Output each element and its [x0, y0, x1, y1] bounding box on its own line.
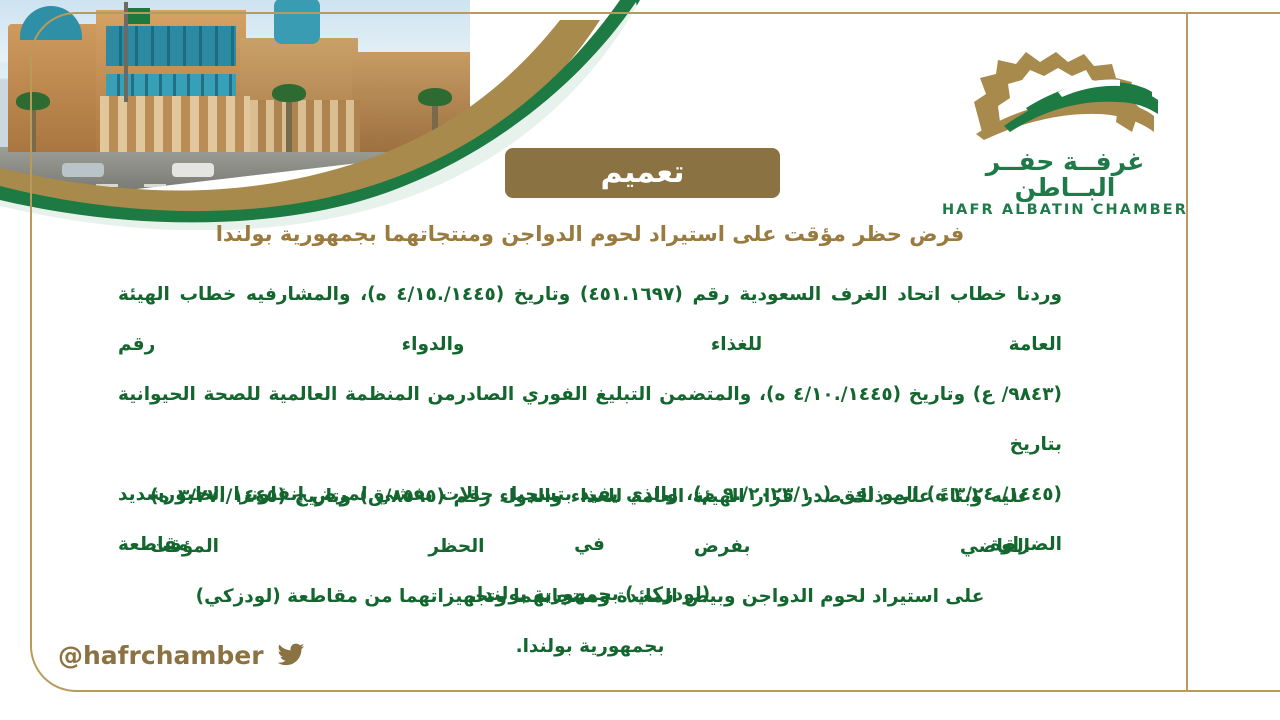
twitter-bird-glyph — [277, 644, 304, 666]
chamber-logo-mark — [940, 40, 1190, 145]
twitter-bird-icon[interactable] — [276, 640, 306, 670]
announcement-page: غرفــة حفــر البــاطن HAFR ALBATIN CHAMB… — [0, 0, 1280, 720]
paragraph-line: عليه وبناءً على ذلك صدر قرار الهيئة العا… — [150, 472, 1030, 572]
page-title: فرض حظر مؤقت على استيراد لحوم الدواجن وم… — [120, 222, 1060, 246]
footer-social: @hafrchamber — [58, 640, 306, 670]
logo-english-name: HAFR ALBATIN CHAMBER — [940, 202, 1190, 218]
paragraph-line: وردنا خطاب اتحاد الغرف السعودية رقم (٤٥١… — [118, 270, 1062, 370]
circular-badge: تعميم — [505, 148, 780, 198]
chamber-logo: غرفــة حفــر البــاطن HAFR ALBATIN CHAMB… — [940, 40, 1190, 190]
paragraph-line: (٩٨٤٣/ ع) وتاريخ (١٤٤٥/.٤/١٠ ه)، والمتضم… — [118, 370, 1062, 470]
logo-arabic-name: غرفــة حفــر البــاطن — [940, 149, 1190, 201]
social-handle[interactable]: @hafrchamber — [58, 641, 264, 670]
